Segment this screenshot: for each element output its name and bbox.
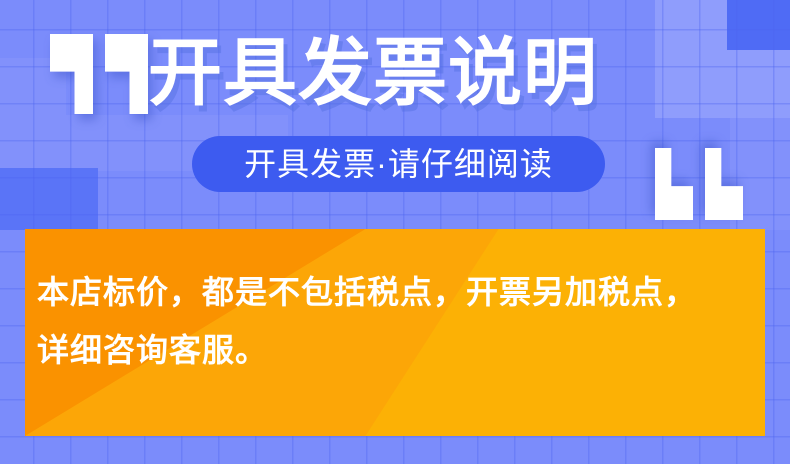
- quote-open-mark-right: [105, 34, 148, 114]
- quote-close-mark-left: [705, 148, 743, 220]
- notice-panel-body: 本店标价，都是不包括税点，开票另加税点， 详细咨询客服。: [25, 229, 765, 379]
- quote-open-icon: [50, 34, 148, 114]
- page-title: 开具发票说明: [148, 27, 598, 119]
- invoice-notice-banner: 开具发票说明 开具发票·请仔细阅读 本店标价，都是不包括税点，开票另加税点， 详…: [0, 0, 790, 464]
- decor-square-light-top-right: [655, 0, 790, 118]
- notice-panel: 本店标价，都是不包括税点，开票另加税点， 详细咨询客服。: [25, 229, 765, 436]
- quote-close-mark-right: [655, 148, 693, 220]
- subtitle-pill-label: 开具发票·请仔细阅读: [244, 148, 553, 180]
- quote-open-mark-left: [50, 34, 93, 114]
- decor-square-dark-left: [0, 168, 98, 230]
- decor-square-dark-top-right: [727, 0, 790, 50]
- subtitle-pill: 开具发票·请仔细阅读: [192, 136, 605, 192]
- notice-line-1: 本店标价，都是不包括税点，开票另加税点，: [37, 263, 765, 321]
- quote-close-icon: [655, 148, 743, 220]
- notice-line-2: 详细咨询客服。: [37, 321, 765, 379]
